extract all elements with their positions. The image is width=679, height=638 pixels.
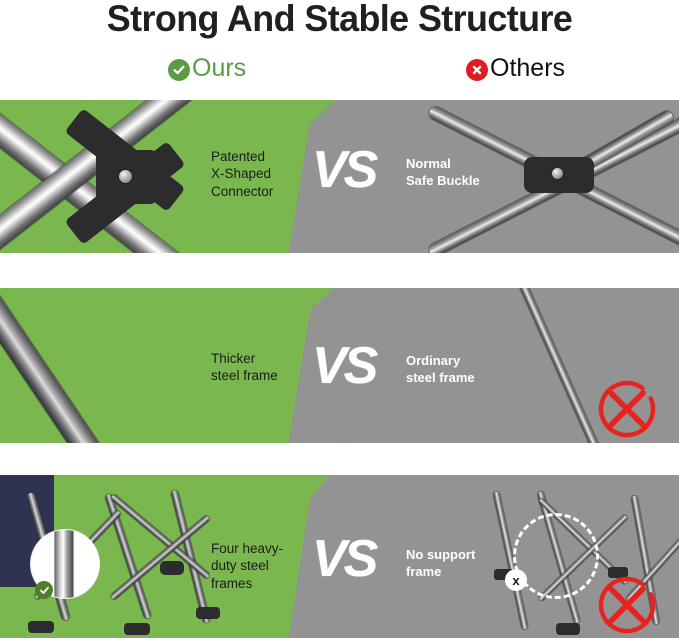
page-title: Strong And Stable Structure (10, 0, 669, 40)
red-cross-mark (596, 378, 658, 440)
comparison-row-support-frame: x Four heavy- duty steel frames No suppo… (0, 475, 679, 638)
header-others: Others (466, 56, 565, 81)
row2-ours-caption: Thicker steel frame (211, 350, 278, 385)
cross-circle-icon (466, 59, 488, 81)
red-cross-mark (596, 574, 658, 636)
missing-frame-highlight (513, 513, 599, 599)
vs-label: VS (312, 340, 375, 392)
row2-seam-tail (294, 426, 354, 443)
row2-others-caption: Ordinary steel frame (406, 353, 475, 386)
x-annotation-icon: x (505, 569, 527, 591)
row1-ours-caption: Patented X-Shaped Connector (211, 148, 273, 200)
check-circle-icon (168, 59, 190, 81)
comparison-row-connector: Patented X-Shaped Connector Normal Safe … (0, 100, 679, 253)
vs-label: VS (312, 533, 375, 585)
row3-others-caption: No support frame (406, 547, 475, 580)
header-others-label: Others (490, 56, 565, 81)
comparison-headers: Ours Others (0, 56, 679, 90)
check-badge-icon (35, 581, 53, 599)
infographic-page: Strong And Stable Structure Ours Others (0, 0, 679, 638)
header-ours-label: Ours (192, 56, 246, 81)
row3-ours-caption: Four heavy- duty steel frames (211, 540, 283, 592)
header-ours: Ours (168, 56, 246, 81)
comparison-row-frame-thickness: Thicker steel frame Ordinary steel frame… (0, 288, 679, 443)
row1-others-caption: Normal Safe Buckle (406, 156, 480, 189)
vs-label: VS (312, 144, 375, 196)
